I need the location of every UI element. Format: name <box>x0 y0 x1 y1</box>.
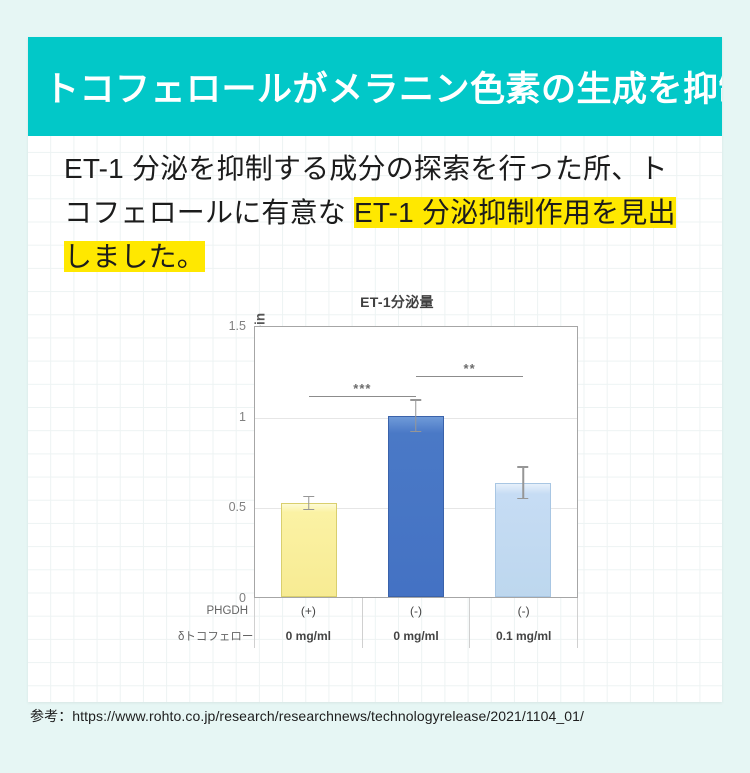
cell-tocopherol-3: 0.1 mg/ml <box>470 623 578 648</box>
page-title: トコフェロールがメラニン色素の生成を抑制 <box>28 61 722 112</box>
y-tick-1: 1 <box>239 410 246 424</box>
category-row-tocopherol: δトコフェロール 0 mg/ml 0 mg/ml 0.1 mg/ml <box>178 623 578 648</box>
bar-phgdh-minus-0_1mgml <box>495 483 551 597</box>
body-line-2-highlight: ET-1 分泌抑制作用を見出 <box>354 197 676 228</box>
bar-slot-3 <box>470 327 577 597</box>
category-row-label-tocopherol: δトコフェロール <box>178 628 254 644</box>
cell-phgdh-2: (-) <box>363 598 471 623</box>
body-paragraph: ET-1 分泌を抑制する成分の探索を行った所、ト コフェロールに有意な ET-1… <box>64 147 704 279</box>
category-cells-phgdh: (+) (-) (-) <box>254 598 578 623</box>
bar-slot-2 <box>362 327 469 597</box>
et1-bar-chart: ET-1分泌量 Relative ET-1 protein 1.5 1 0.5 … <box>178 292 578 672</box>
chart-title: ET-1分泌量 <box>178 292 578 312</box>
cell-tocopherol-2: 0 mg/ml <box>363 623 471 648</box>
category-cells-tocopherol: 0 mg/ml 0 mg/ml 0.1 mg/ml <box>254 623 578 648</box>
bar-series <box>255 327 577 597</box>
y-tick-1_5: 1.5 <box>229 319 246 333</box>
reference-footer: 参考：https://www.rohto.co.jp/research/rese… <box>30 706 584 726</box>
body-line-3-highlight: しました。 <box>64 241 205 272</box>
error-bar-2 <box>415 399 417 432</box>
chart-plot-row: Relative ET-1 protein 1.5 1 0.5 0 *** ** <box>178 326 578 598</box>
category-row-phgdh: PHGDH (+) (-) (-) <box>178 598 578 623</box>
y-axis-ticks: 1.5 1 0.5 0 <box>210 326 250 598</box>
bar-phgdh-plus-0mgml <box>281 503 337 597</box>
category-table: PHGDH (+) (-) (-) δトコフェロール 0 mg/ml 0 mg/… <box>178 598 578 648</box>
cell-tocopherol-1: 0 mg/ml <box>255 623 363 648</box>
y-tick-0_5: 0.5 <box>229 500 246 514</box>
error-bar-3 <box>523 466 525 499</box>
cell-phgdh-1: (+) <box>255 598 363 623</box>
bar-slot-1 <box>255 327 362 597</box>
header-band: トコフェロールがメラニン色素の生成を抑制 <box>28 37 722 136</box>
content-card: トコフェロールがメラニン色素の生成を抑制 ET-1 分泌を抑制する成分の探索を行… <box>28 37 722 702</box>
cell-phgdh-3: (-) <box>470 598 578 623</box>
bar-phgdh-minus-0mgml <box>388 416 444 597</box>
error-bar-1 <box>308 496 310 511</box>
category-row-label-phgdh: PHGDH <box>178 605 254 617</box>
body-line-1: ET-1 分泌を抑制する成分の探索を行った所、ト <box>64 153 668 184</box>
plot-area: *** ** <box>254 326 578 598</box>
body-line-2-plain: コフェロールに有意な <box>64 197 354 228</box>
